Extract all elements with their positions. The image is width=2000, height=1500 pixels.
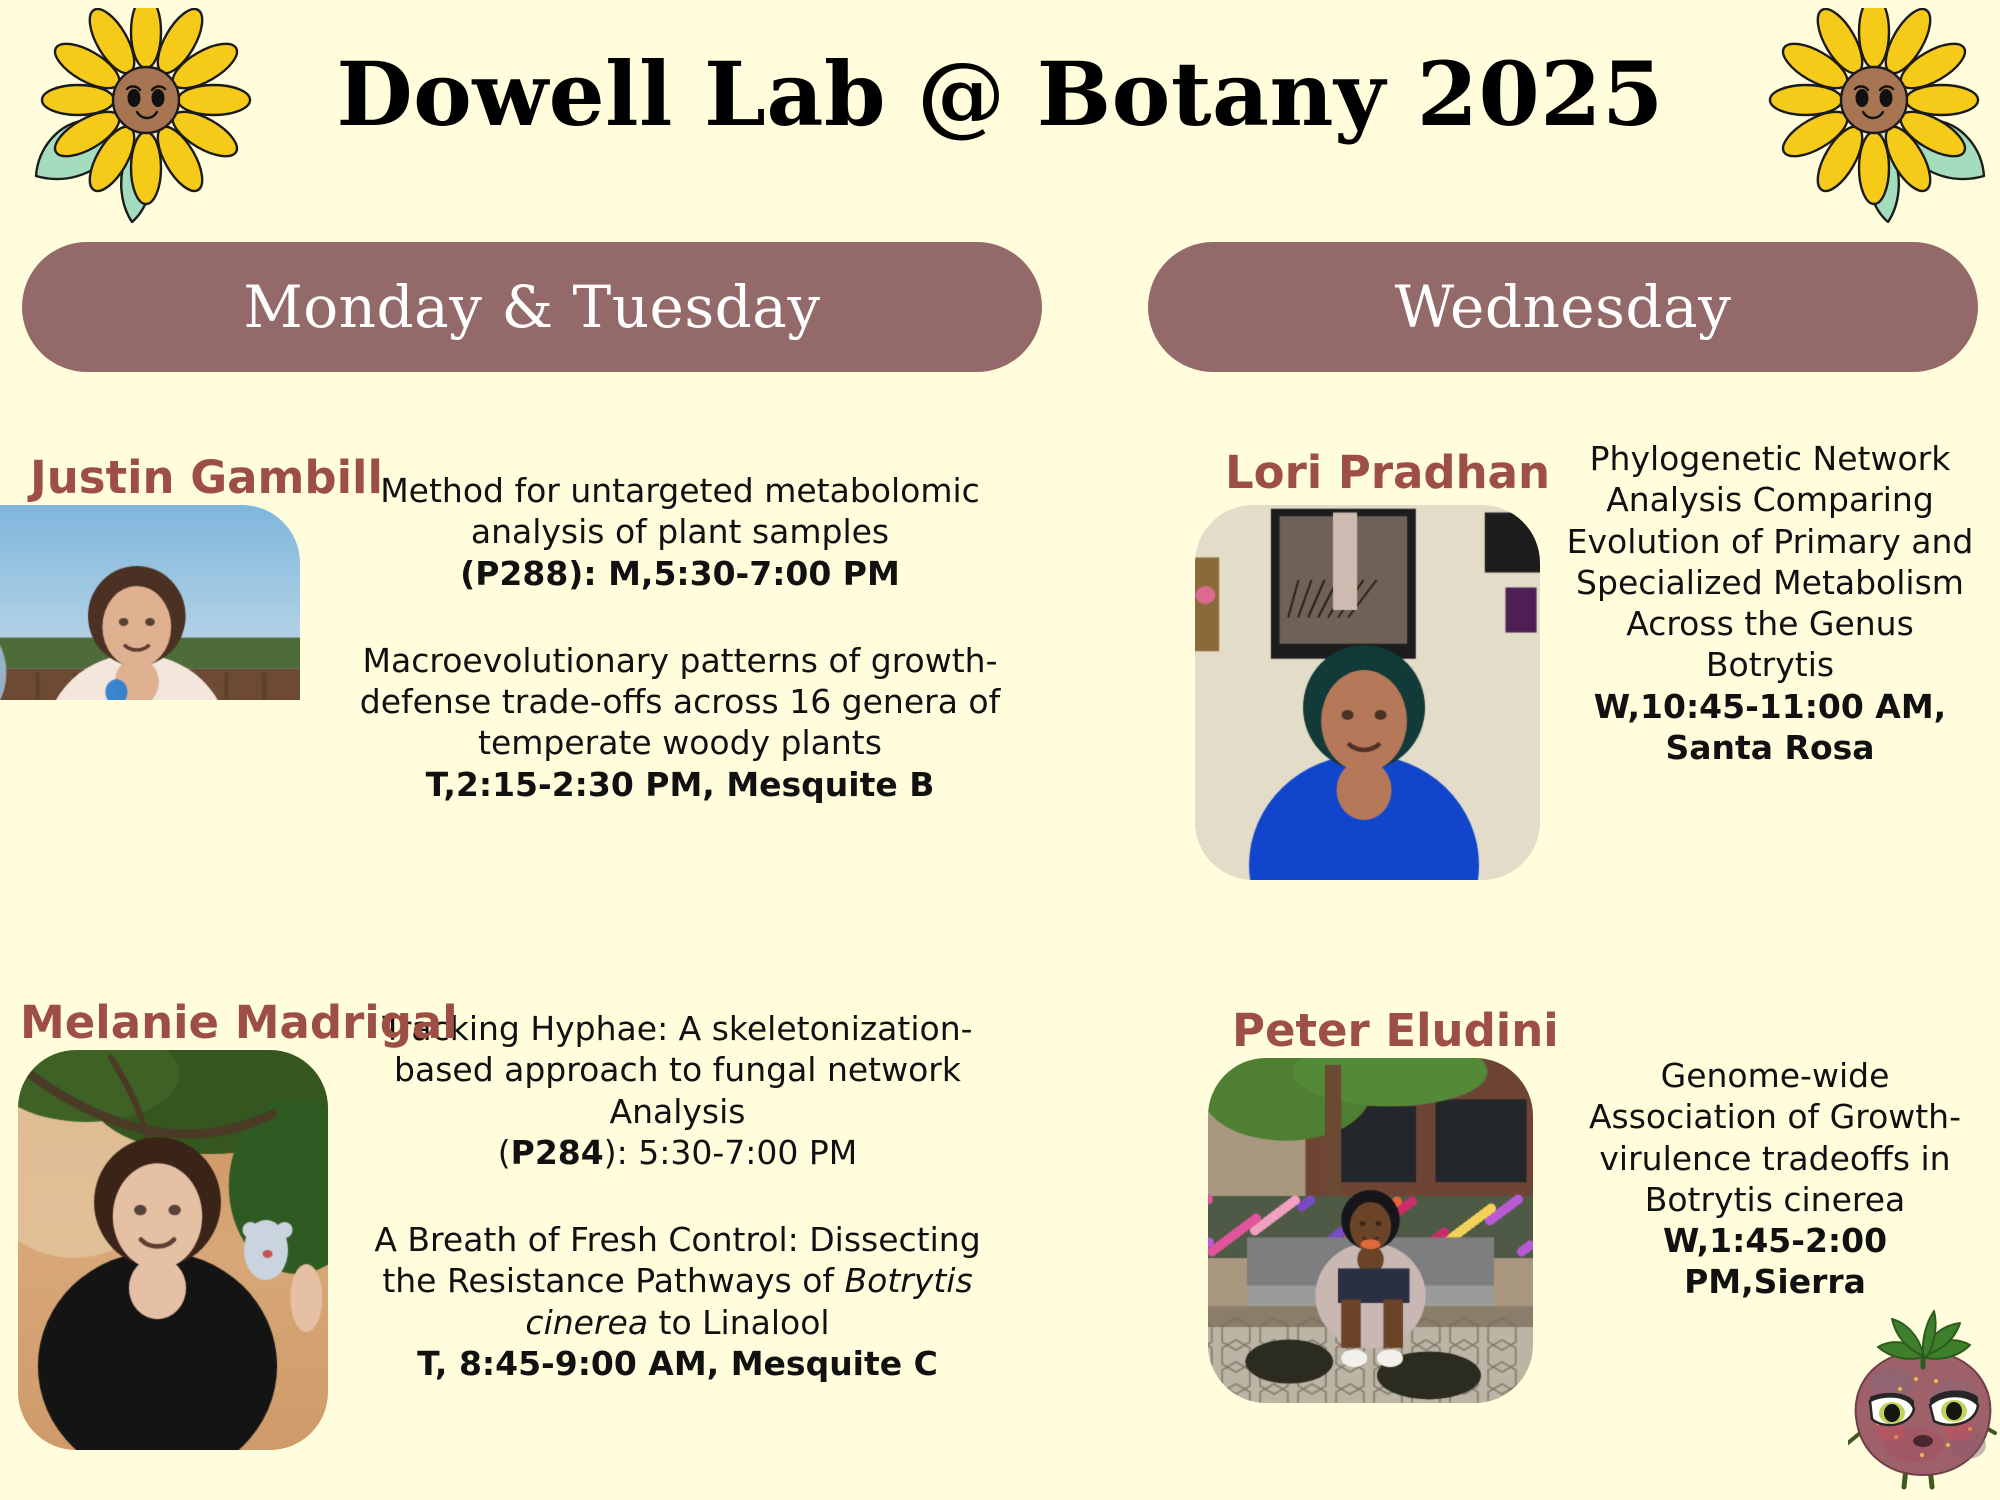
abstract-list-lori-pradhan: Phylogenetic Network Analysis Comparing … [1565, 438, 1975, 768]
details-prefix: ( [498, 1133, 511, 1172]
talk-details: T,2:15-2:30 PM, Mesquite B [426, 765, 935, 804]
talk-details: W,10:45-11:00 AM, Santa Rosa [1594, 687, 1946, 767]
spacer [345, 1173, 1010, 1219]
person-name-lori-pradhan: Lori Pradhan [1225, 450, 1550, 495]
person-name-melanie-madrigal: Melanie Madrigal [20, 1000, 458, 1045]
day-header-wednesday: Wednesday [1148, 242, 1978, 372]
talk-details: T, 8:45-9:00 AM, Mesquite C [417, 1344, 938, 1383]
details-suffix: ): 5:30-7:00 PM [604, 1133, 857, 1172]
talk-title: Genome-wide Association of Growth-virule… [1575, 1055, 1975, 1220]
avatar-lori-pradhan [1195, 505, 1540, 880]
day-header-monday-tuesday: Monday & Tuesday [22, 242, 1042, 372]
poster-root: Dowell Lab @ Botany 2025 Monday & Tuesda… [0, 0, 2000, 1500]
talk-details: W,1:45-2:00 PM,Sierra [1663, 1221, 1887, 1301]
talk-title-composite: A Breath of Fresh Control: Dissecting th… [345, 1219, 1010, 1343]
talk-details: (P288): M,5:30-7:00 PM [460, 554, 900, 593]
page-title: Dowell Lab @ Botany 2025 [0, 48, 2000, 140]
details-code: P284 [511, 1133, 604, 1172]
avatar-justin-gambill-clip [0, 505, 300, 685]
avatar-peter-eludini [1208, 1058, 1533, 1403]
abstract-list-melanie-madrigal: Tracking Hyphae: A skeletonization-based… [345, 1008, 1010, 1384]
spacer [340, 594, 1020, 640]
day-header-label: Wednesday [1395, 278, 1732, 336]
person-name-justin-gambill: Justin Gambill [30, 455, 383, 500]
title-part2: to Linalool [648, 1303, 830, 1342]
talk-title: Method for untargeted metabolomic analys… [340, 470, 1020, 553]
person-name-peter-eludini: Peter Eludini [1232, 1008, 1559, 1053]
abstract-list-justin-gambill: Method for untargeted metabolomic analys… [340, 470, 1020, 805]
talk-title: Macroevolutionary patterns of growth-def… [340, 640, 1020, 764]
talk-details-composite: (P284): 5:30-7:00 PM [345, 1132, 1010, 1173]
talk-title: Phylogenetic Network Analysis Comparing … [1565, 438, 1975, 686]
abstract-list-peter-eludini: Genome-wide Association of Growth-virule… [1575, 1055, 1975, 1303]
day-header-label: Monday & Tuesday [243, 278, 820, 336]
avatar-melanie-madrigal [18, 1050, 328, 1450]
grumpy-strawberry-icon [1848, 1305, 1998, 1500]
